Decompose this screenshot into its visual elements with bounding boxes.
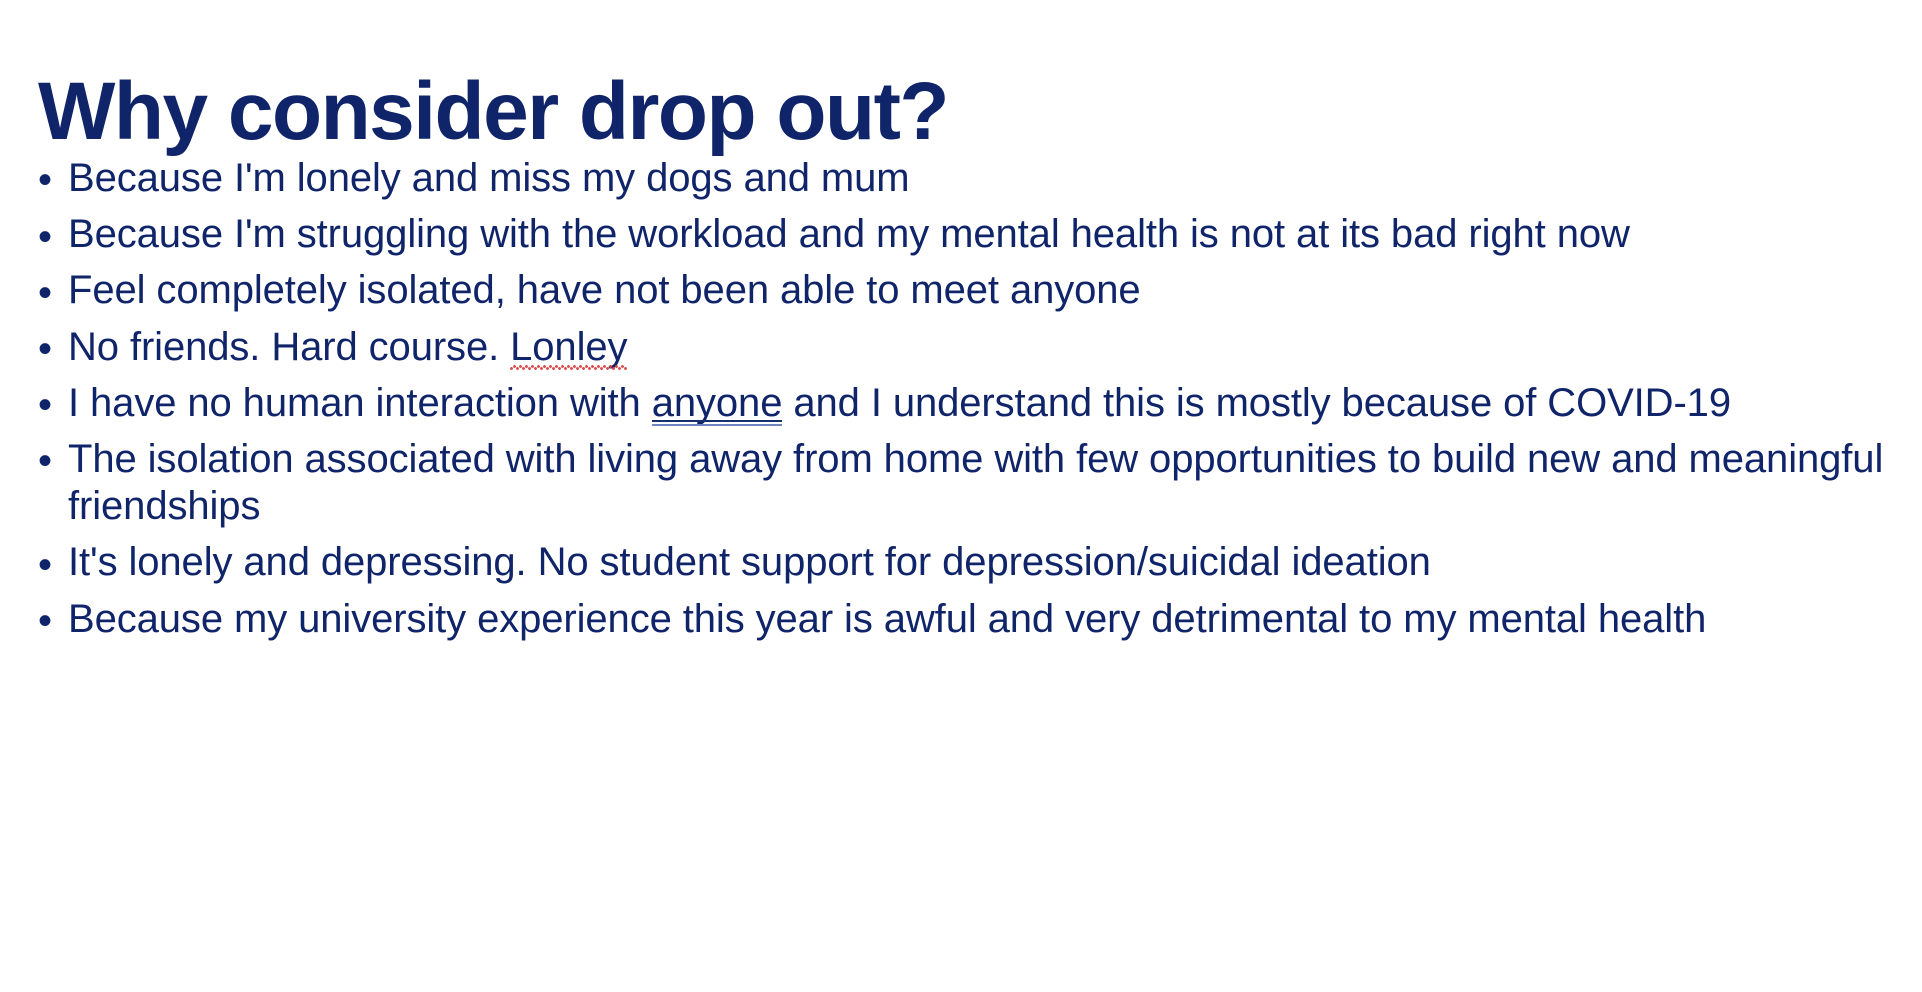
list-item[interactable]: • Because I'm struggling with the worklo…	[32, 211, 1902, 258]
list-item-text: Because I'm struggling with the workload…	[68, 212, 1630, 256]
list-item[interactable]: • I have no human interaction with anyon…	[32, 380, 1902, 427]
list-item[interactable]: • Because my university experience this …	[32, 596, 1902, 643]
bullet-list: • Because I'm lonely and miss my dogs an…	[32, 155, 1902, 652]
list-item-text: Feel completely isolated, have not been …	[68, 268, 1141, 312]
list-item-text-before: No friends. Hard course.	[68, 325, 510, 369]
list-item[interactable]: • No friends. Hard course. Lonley	[32, 324, 1902, 371]
grammar-underlined-word[interactable]: anyone	[652, 380, 783, 427]
bullet-point-icon: •	[38, 270, 52, 317]
list-item-text: Because I'm lonely and miss my dogs and …	[68, 156, 909, 200]
list-item-text: It's lonely and depressing. No student s…	[68, 540, 1431, 584]
page-title: Why consider drop out?	[38, 67, 948, 157]
spellcheck-underlined-word[interactable]: Lonley	[510, 324, 627, 371]
list-item-text: The isolation associated with living awa…	[68, 437, 1883, 528]
bullet-point-icon: •	[38, 382, 52, 429]
bullet-point-icon: •	[38, 438, 52, 485]
list-item[interactable]: • It's lonely and depressing. No student…	[32, 539, 1902, 586]
list-item-text-before: I have no human interaction with	[68, 381, 652, 425]
list-item-text-after: and I understand this is mostly because …	[782, 381, 1731, 425]
list-item[interactable]: • The isolation associated with living a…	[32, 436, 1902, 530]
presentation-slide: Why consider drop out? • Because I'm lon…	[0, 0, 1922, 992]
list-item[interactable]: • Feel completely isolated, have not bee…	[32, 267, 1902, 314]
bullet-point-icon: •	[38, 326, 52, 373]
bullet-point-icon: •	[38, 598, 52, 645]
bullet-point-icon: •	[38, 157, 52, 204]
bullet-point-icon: •	[38, 214, 52, 261]
list-item[interactable]: • Because I'm lonely and miss my dogs an…	[32, 155, 1902, 202]
list-item-text: Because my university experience this ye…	[68, 597, 1706, 641]
bullet-point-icon: •	[38, 542, 52, 589]
